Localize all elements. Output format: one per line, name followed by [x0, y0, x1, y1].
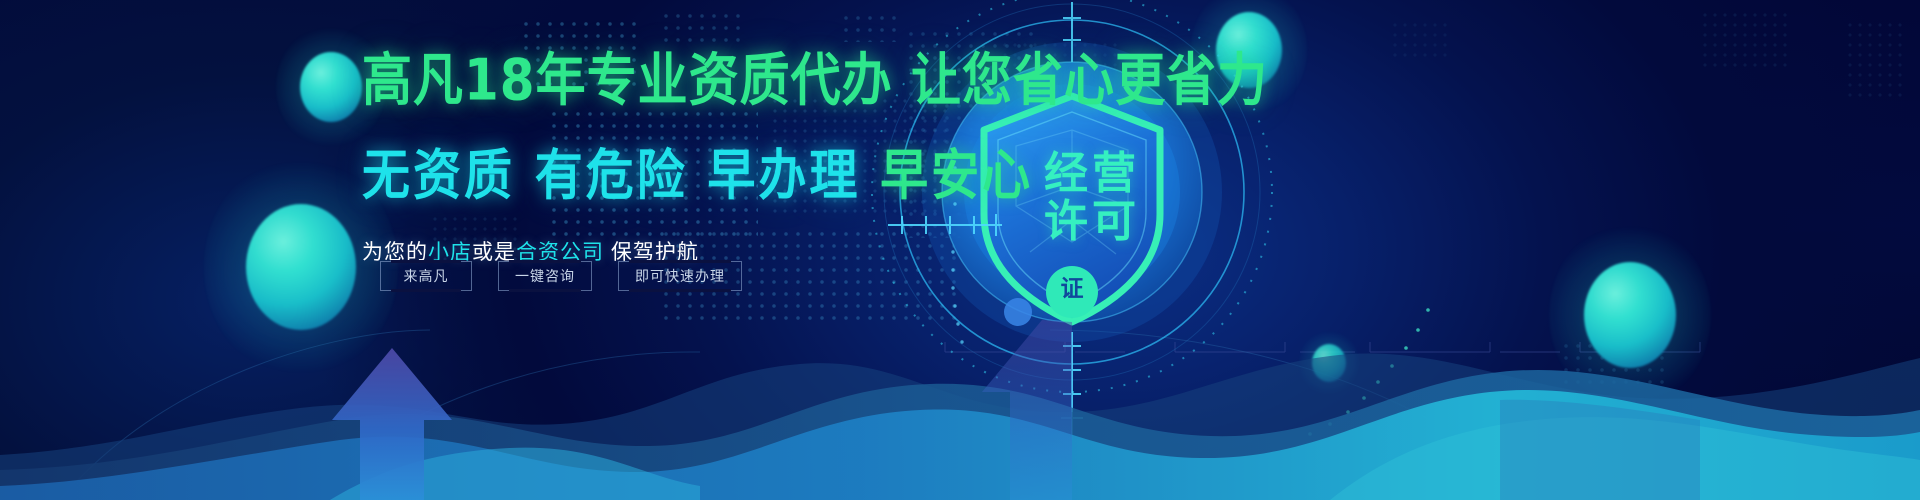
cta-button-row: 来高凡 一键咨询 即可快速办理 [380, 261, 742, 291]
sphere-small-top-left [300, 52, 362, 122]
headline-line-2-part-1: 无资质 有危险 早办理 [362, 144, 880, 208]
wave-mid [0, 370, 1920, 500]
wave-block-right [1500, 400, 1700, 500]
wave-back [0, 354, 1920, 500]
cta-button-3[interactable]: 即可快速办理 [618, 261, 742, 291]
growth-arrow-right [982, 320, 1072, 500]
shield-badge-label: 证 [1046, 277, 1098, 300]
wave-accent-right [1330, 417, 1920, 500]
cta-button-2-label: 一键咨询 [515, 266, 575, 286]
growth-arrow [332, 320, 1072, 500]
cta-button-2[interactable]: 一键咨询 [498, 261, 592, 291]
wave-group [0, 354, 1920, 500]
shield-label-line-1: 经营 [1012, 150, 1172, 198]
crosshair-vertical [1061, 332, 1083, 440]
cta-button-1-label: 来高凡 [404, 266, 449, 286]
sphere-tiny-bottom [1312, 344, 1346, 382]
shield-text-group: 经营 许可 [1012, 150, 1172, 245]
wave-accent-left [330, 448, 700, 500]
cta-button-3-label: 即可快速办理 [635, 266, 725, 286]
cta-button-1[interactable]: 来高凡 [380, 261, 472, 291]
headline-line-1: 高凡18年专业资质代办 让您省心更省力 [362, 48, 1182, 112]
wave-front [0, 390, 1920, 500]
promo-banner: 高凡18年专业资质代办 让您省心更省力 无资质 有危险 早办理 早安心 为您的小… [0, 0, 1920, 500]
dotted-trail-right [1308, 308, 1430, 436]
shield-label-line-2: 许可 [1012, 198, 1172, 246]
emblem-accent-dot [1004, 298, 1032, 326]
sphere-right [1584, 262, 1676, 368]
headline-line-2-part-2: 早安心 [880, 144, 1033, 208]
sphere-large-left [246, 204, 356, 330]
